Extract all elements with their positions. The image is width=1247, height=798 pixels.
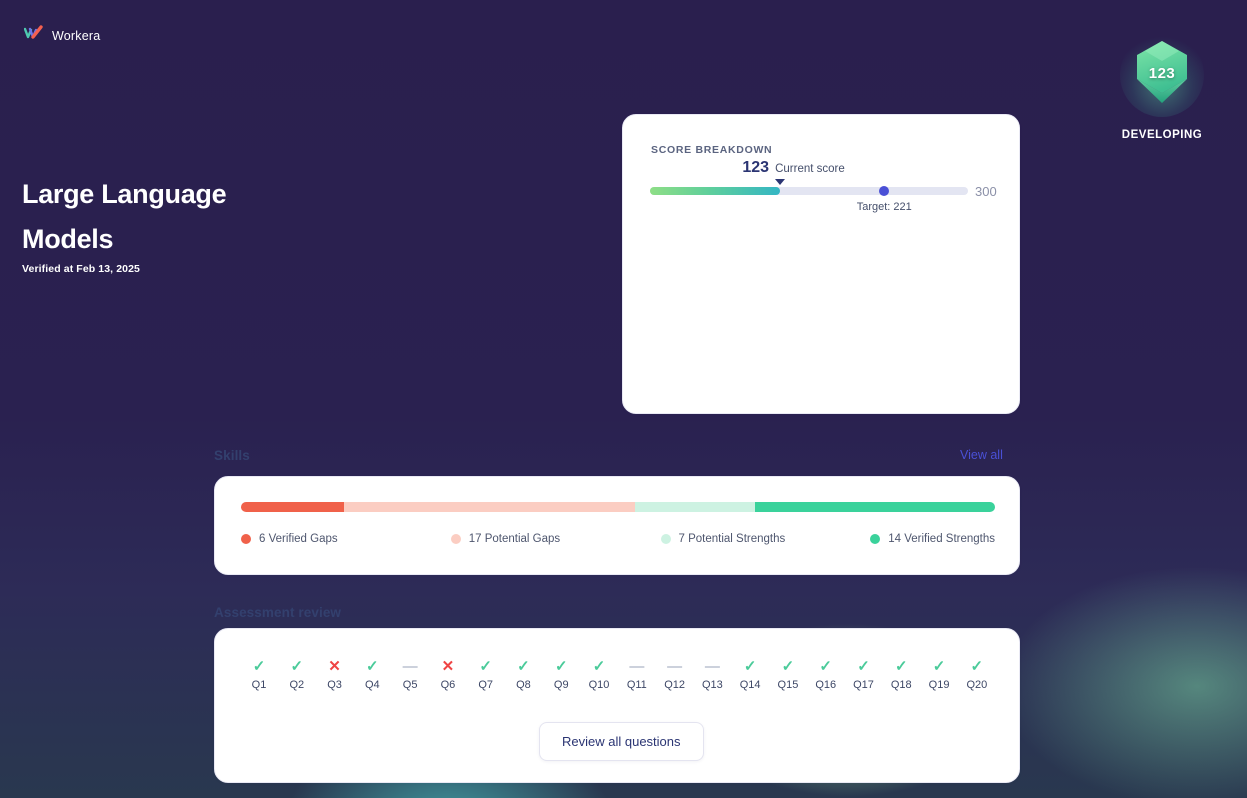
question-label: Q17 xyxy=(848,679,880,691)
question-label: Q3 xyxy=(319,679,351,691)
check-icon: ✓ xyxy=(848,657,880,677)
question-result-item[interactable]: ✕Q3 xyxy=(319,657,351,691)
assessment-review-label: Assessment review xyxy=(214,605,341,620)
question-label: Q4 xyxy=(356,679,388,691)
legend-label: 6 Verified Gaps xyxy=(259,533,338,545)
question-label: Q5 xyxy=(394,679,426,691)
check-icon: ✓ xyxy=(243,657,275,677)
question-label: Q11 xyxy=(621,679,653,691)
domain-score-page: YOUR DOMAIN SCORE Large Language Models … xyxy=(0,0,1247,798)
question-result-item[interactable]: ✓Q16 xyxy=(810,657,842,691)
skills-bar-segment xyxy=(635,502,755,512)
question-label: Q12 xyxy=(659,679,691,691)
workera-wordmark: Workera xyxy=(52,29,100,43)
cross-icon: ✕ xyxy=(432,657,464,677)
question-label: Q14 xyxy=(734,679,766,691)
check-icon: ✓ xyxy=(583,657,615,677)
skills-legend-item[interactable]: 17 Potential Gaps xyxy=(451,533,661,545)
dash-icon: — xyxy=(394,657,426,677)
question-label: Q8 xyxy=(507,679,539,691)
skills-view-all-link[interactable]: View all xyxy=(960,448,1003,462)
skills-bar-segment xyxy=(755,502,995,512)
skills-bar-segment xyxy=(344,502,635,512)
legend-label: 17 Potential Gaps xyxy=(469,533,560,545)
workera-mark-icon xyxy=(24,25,46,46)
skills-distribution-bar xyxy=(241,502,995,512)
skills-card: 6 Verified Gaps17 Potential Gaps7 Potent… xyxy=(214,476,1020,575)
question-result-item[interactable]: —Q13 xyxy=(696,657,728,691)
score-track[interactable] xyxy=(650,187,968,195)
question-result-item[interactable]: ✓Q10 xyxy=(583,657,615,691)
check-icon: ✓ xyxy=(772,657,804,677)
score-fill xyxy=(650,187,780,195)
check-icon: ✓ xyxy=(734,657,766,677)
score-breakdown-heading: SCORE BREAKDOWN xyxy=(651,144,772,156)
skills-legend-item[interactable]: 6 Verified Gaps xyxy=(241,533,451,545)
cross-icon: ✕ xyxy=(319,657,351,677)
question-result-item[interactable]: ✓Q18 xyxy=(885,657,917,691)
question-label: Q2 xyxy=(281,679,313,691)
dash-icon: — xyxy=(696,657,728,677)
skills-legend-item[interactable]: 7 Potential Strengths xyxy=(661,533,871,545)
current-score-row: 123 Current score xyxy=(742,159,844,177)
review-all-questions-button[interactable]: Review all questions xyxy=(539,722,704,761)
question-result-item[interactable]: ✓Q7 xyxy=(470,657,502,691)
legend-label: 14 Verified Strengths xyxy=(888,533,995,545)
workera-logo: Workera xyxy=(24,25,100,46)
question-result-item[interactable]: —Q12 xyxy=(659,657,691,691)
question-label: Q18 xyxy=(885,679,917,691)
question-result-item[interactable]: ✓Q15 xyxy=(772,657,804,691)
current-score-value: 123 xyxy=(742,159,769,177)
question-result-item[interactable]: ✓Q17 xyxy=(848,657,880,691)
current-score-caret-icon xyxy=(775,179,785,185)
check-icon: ✓ xyxy=(356,657,388,677)
legend-color-dot xyxy=(870,534,880,544)
assessment-hero-card: Workera xyxy=(0,0,396,300)
question-label: Q15 xyxy=(772,679,804,691)
question-label: Q13 xyxy=(696,679,728,691)
skills-bar-segment xyxy=(241,502,344,512)
question-label: Q10 xyxy=(583,679,615,691)
legend-label: 7 Potential Strengths xyxy=(679,533,786,545)
legend-color-dot xyxy=(451,534,461,544)
question-result-item[interactable]: ✓Q8 xyxy=(507,657,539,691)
score-max-label: 300 xyxy=(975,184,997,199)
question-result-item[interactable]: ✕Q6 xyxy=(432,657,464,691)
question-label: Q6 xyxy=(432,679,464,691)
question-result-item[interactable]: ✓Q19 xyxy=(923,657,955,691)
assessment-review-card: ✓Q1✓Q2✕Q3✓Q4—Q5✕Q6✓Q7✓Q8✓Q9✓Q10—Q11—Q12—… xyxy=(214,628,1020,783)
score-breakdown-card: SCORE BREAKDOWN 123 Current score 300 Ta… xyxy=(622,114,1020,414)
question-result-item[interactable]: —Q11 xyxy=(621,657,653,691)
question-result-item[interactable]: ✓Q14 xyxy=(734,657,766,691)
check-icon: ✓ xyxy=(885,657,917,677)
target-score-label: Target: 221 xyxy=(857,201,912,213)
current-score-label: Current score xyxy=(775,163,845,175)
target-score-dot[interactable] xyxy=(879,186,889,196)
question-label: Q19 xyxy=(923,679,955,691)
question-result-item[interactable]: ✓Q2 xyxy=(281,657,313,691)
skills-label: Skills xyxy=(214,448,250,463)
question-results-grid: ✓Q1✓Q2✕Q3✓Q4—Q5✕Q6✓Q7✓Q8✓Q9✓Q10—Q11—Q12—… xyxy=(243,657,993,691)
dash-icon: — xyxy=(621,657,653,677)
check-icon: ✓ xyxy=(923,657,955,677)
question-label: Q9 xyxy=(545,679,577,691)
question-result-item[interactable]: ✓Q20 xyxy=(961,657,993,691)
legend-color-dot xyxy=(661,534,671,544)
question-result-item[interactable]: ✓Q9 xyxy=(545,657,577,691)
question-label: Q20 xyxy=(961,679,993,691)
check-icon: ✓ xyxy=(961,657,993,677)
check-icon: ✓ xyxy=(507,657,539,677)
legend-color-dot xyxy=(241,534,251,544)
check-icon: ✓ xyxy=(810,657,842,677)
hero-title: Large Language Models xyxy=(22,172,322,262)
dash-icon: — xyxy=(659,657,691,677)
skills-legend: 6 Verified Gaps17 Potential Gaps7 Potent… xyxy=(241,533,995,545)
check-icon: ✓ xyxy=(545,657,577,677)
check-icon: ✓ xyxy=(470,657,502,677)
skills-legend-item[interactable]: 14 Verified Strengths xyxy=(870,533,995,545)
question-label: Q7 xyxy=(470,679,502,691)
check-icon: ✓ xyxy=(281,657,313,677)
question-label: Q16 xyxy=(810,679,842,691)
question-result-item[interactable]: —Q5 xyxy=(394,657,426,691)
question-label: Q1 xyxy=(243,679,275,691)
question-result-item[interactable]: ✓Q1 xyxy=(243,657,275,691)
question-result-item[interactable]: ✓Q4 xyxy=(356,657,388,691)
hero-verified-date: Verified at Feb 13, 2025 xyxy=(22,263,140,275)
